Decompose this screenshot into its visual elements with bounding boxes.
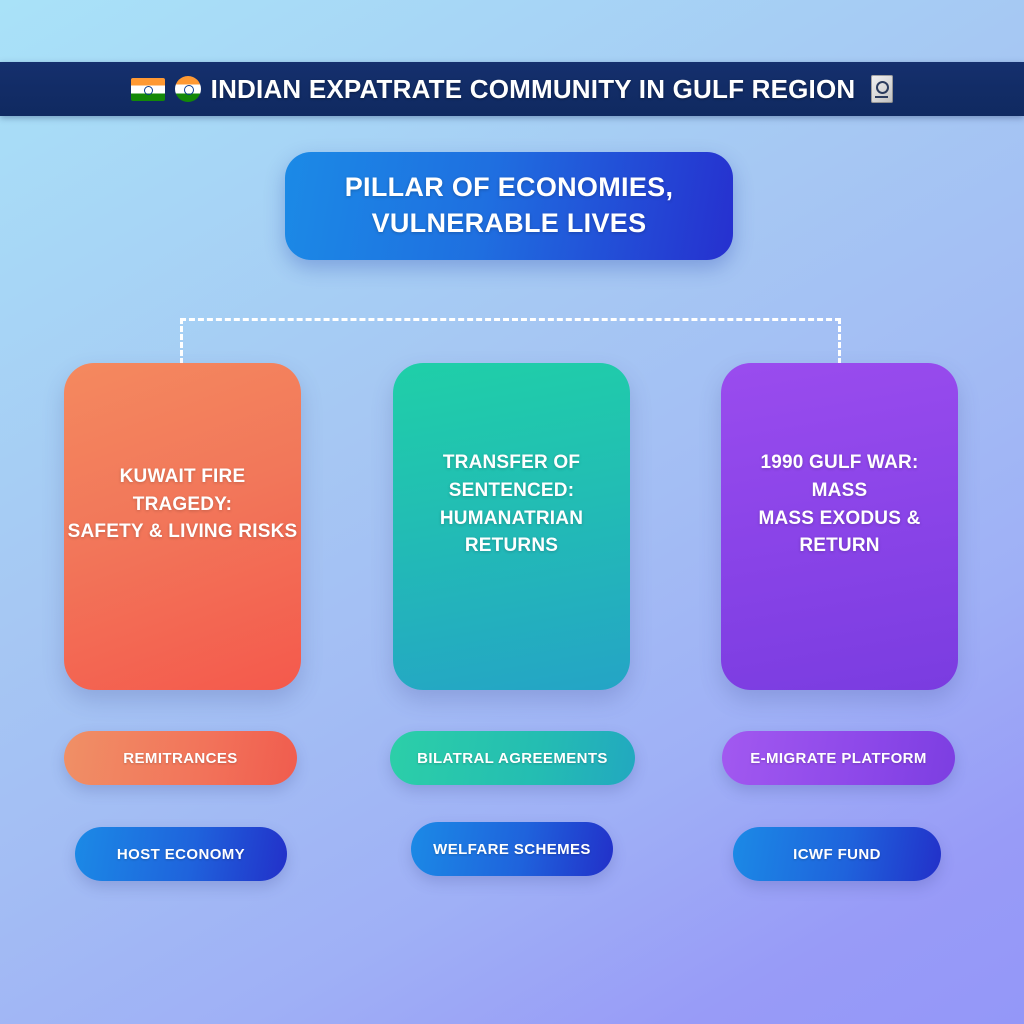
pill-icwf-fund[interactable]: ICWF FUND — [733, 827, 941, 881]
title-badge-text: PILLAR OF ECONOMIES, VULNERABLE LIVES — [345, 170, 674, 241]
card-kuwait-fire-tragedy[interactable]: KUWAIT FIRE TRAGEDY: SAFETY & LIVING RIS… — [64, 363, 301, 690]
pill-label: REMITRANCES — [123, 750, 237, 767]
pill-host-economy[interactable]: HOST ECONOMY — [75, 827, 287, 881]
india-flag-rectangular-icon — [131, 78, 165, 101]
pill-label: E-MIGRATE PLATFORM — [750, 750, 927, 767]
card-title: TRANSFER OF SENTENCED: HUMANATRIAN RETUR… — [393, 449, 630, 559]
pill-remittances[interactable]: REMITRANCES — [64, 731, 297, 785]
india-flag-circular-icon — [175, 76, 201, 102]
pill-e-migrate-platform[interactable]: E-MIGRATE PLATFORM — [722, 731, 955, 785]
pill-welfare-schemes[interactable]: WELFARE SCHEMES — [411, 822, 613, 876]
pill-bilateral-agreements[interactable]: BILATRAL AGREEMENTS — [390, 731, 635, 785]
dashed-connector-bracket — [180, 318, 841, 364]
title-badge: PILLAR OF ECONOMIES, VULNERABLE LIVES — [285, 152, 733, 260]
pill-label: WELFARE SCHEMES — [433, 841, 591, 858]
card-gulf-war-1990[interactable]: 1990 GULF WAR: MASS MASS EXODUS & RETURN — [721, 363, 958, 690]
card-title: 1990 GULF WAR: MASS MASS EXODUS & RETURN — [721, 449, 958, 559]
pill-label: HOST ECONOMY — [117, 846, 245, 863]
cards-row: KUWAIT FIRE TRAGEDY: SAFETY & LIVING RIS… — [0, 363, 1024, 693]
card-title: KUWAIT FIRE TRAGEDY: SAFETY & LIVING RIS… — [64, 463, 301, 546]
pill-label: BILATRAL AGREEMENTS — [417, 750, 608, 767]
page-title: INDIAN EXPATRATE COMMUNITY IN GULF REGIO… — [211, 74, 856, 105]
note-document-icon — [871, 75, 893, 103]
pill-label: ICWF FUND — [793, 846, 881, 863]
card-transfer-of-sentenced[interactable]: TRANSFER OF SENTENCED: HUMANATRIAN RETUR… — [393, 363, 630, 690]
header-bar: INDIAN EXPATRATE COMMUNITY IN GULF REGIO… — [0, 62, 1024, 116]
